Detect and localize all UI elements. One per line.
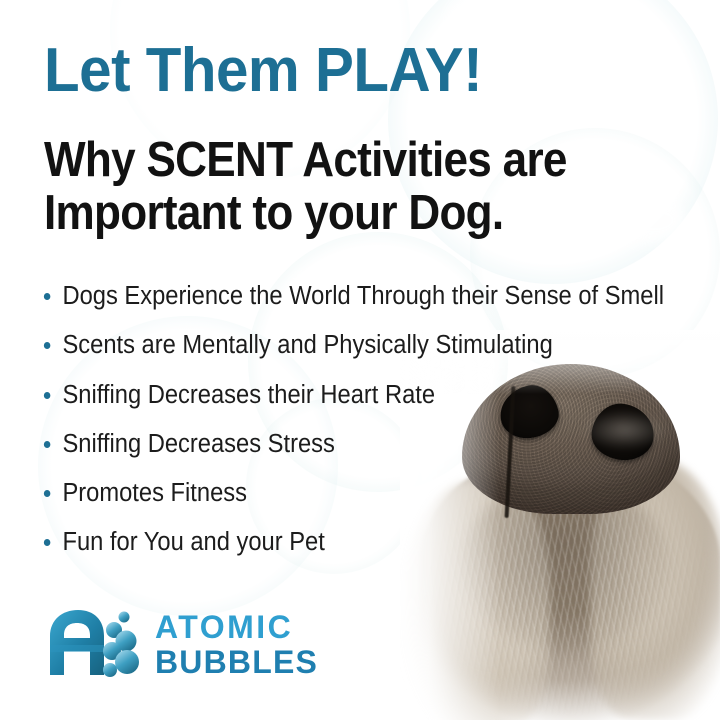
page-title: Let Them PLAY! [44, 40, 482, 102]
list-item: Promotes Fitness [42, 480, 656, 507]
list-item: Sniffing Decreases Stress [42, 431, 656, 458]
list-item: Scents are Mentally and Physically Stimu… [42, 332, 656, 359]
logo-bubble-cluster [103, 612, 139, 678]
list-item-label: Scents are Mentally and Physically Stimu… [62, 331, 552, 359]
bullet-dot-icon [44, 342, 51, 349]
subheading-line-1: Why SCENT Activities are [44, 133, 567, 187]
list-item: Sniffing Decreases their Heart Rate [42, 382, 656, 409]
atomic-bubbles-logo: ATOMIC BUBBLES [42, 605, 317, 681]
logo-svg: ATOMIC BUBBLES [42, 605, 317, 681]
bullet-dot-icon [44, 293, 51, 300]
bullet-dot-icon [44, 441, 51, 448]
benefits-list: Dogs Experience the World Through their … [42, 283, 702, 579]
logo-wordmark-bubbles: BUBBLES [155, 644, 317, 680]
list-item-label: Fun for You and your Pet [62, 528, 324, 556]
bullet-dot-icon [44, 539, 51, 546]
list-item-label: Promotes Fitness [62, 479, 247, 507]
poster-content: Let Them PLAY! Why SCENT Activities are … [0, 0, 720, 720]
bullet-dot-icon [44, 490, 51, 497]
logo-a-mark [50, 610, 104, 675]
list-item-label: Sniffing Decreases their Heart Rate [62, 381, 435, 409]
bullet-dot-icon [44, 392, 51, 399]
subheading-line-2: Important to your Dog. [44, 187, 620, 240]
logo-wordmark-atomic: ATOMIC [155, 609, 293, 645]
list-item-label: Dogs Experience the World Through their … [62, 282, 664, 310]
subheading: Why SCENT Activities are Important to yo… [44, 134, 620, 240]
poster-canvas: Let Them PLAY! Why SCENT Activities are … [0, 0, 720, 720]
list-item-label: Sniffing Decreases Stress [62, 430, 334, 458]
list-item: Dogs Experience the World Through their … [42, 283, 656, 310]
list-item: Fun for You and your Pet [42, 529, 656, 556]
